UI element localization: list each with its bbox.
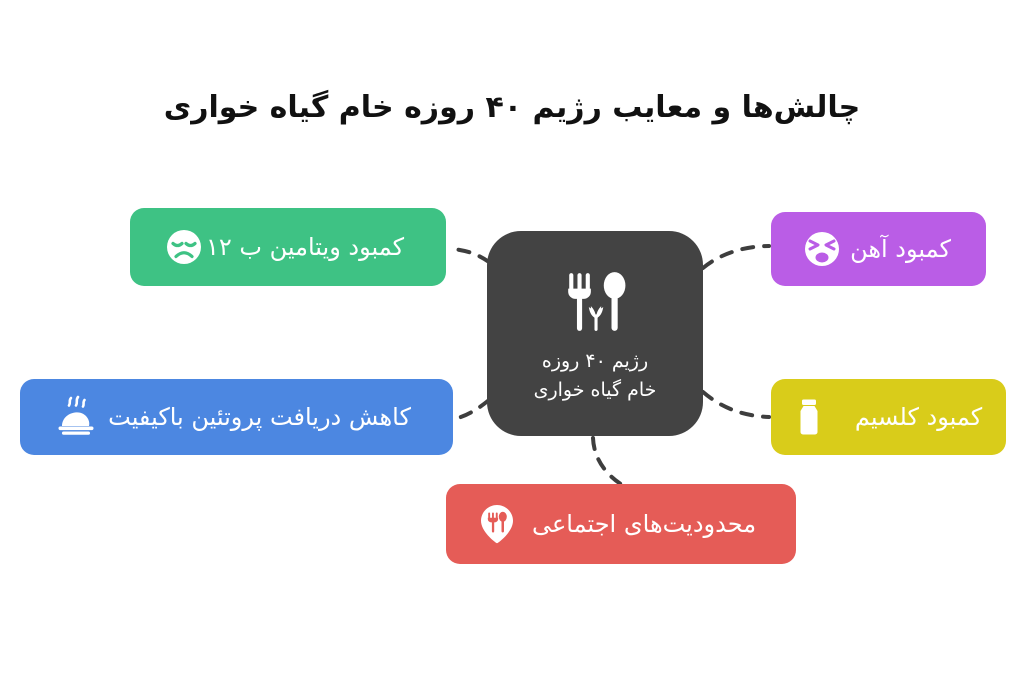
connector-to-b12 <box>448 248 489 262</box>
hot-meal-platter-icon <box>54 395 98 439</box>
branch-label-iron: کمبود آهن <box>850 235 951 264</box>
connector-to-protein <box>453 400 489 419</box>
branch-label-b12: کمبود ویتامین ب ۱۲ <box>206 233 404 262</box>
milk-bottle-icon <box>789 397 829 437</box>
restaurant-map-pin-icon <box>476 503 518 545</box>
connector-to-calcium <box>703 392 769 417</box>
weary-face-icon <box>802 229 842 269</box>
branch-node-social[interactable]: محدودیت‌های اجتماعی <box>446 484 796 564</box>
connector-to-iron <box>703 246 769 268</box>
branch-node-iron[interactable]: کمبود آهن <box>771 212 986 286</box>
central-node[interactable]: رژیم ۴۰ روزه خام گیاه خواری <box>487 231 703 436</box>
branch-label-protein: کاهش دریافت پروتئین باکیفیت <box>108 403 411 432</box>
branch-node-b12[interactable]: کمبود ویتامین ب ۱۲ <box>130 208 446 286</box>
branch-node-calcium[interactable]: کمبود کلسیم <box>771 379 1006 455</box>
branch-label-social: محدودیت‌های اجتماعی <box>532 510 756 539</box>
disappointed-face-icon <box>164 227 204 267</box>
branch-node-protein[interactable]: کاهش دریافت پروتئین باکیفیت <box>20 379 453 455</box>
fork-leaf-spoon-icon <box>562 269 628 335</box>
page-title: چالش‌ها و معایب رژیم ۴۰ روزه خام گیاه خو… <box>0 86 1024 130</box>
central-node-label: رژیم ۴۰ روزه خام گیاه خواری <box>534 347 657 404</box>
connector-to-social <box>593 438 624 486</box>
branch-label-calcium: کمبود کلسیم <box>855 403 982 432</box>
infographic-canvas: چالش‌ها و معایب رژیم ۴۰ روزه خام گیاه خو… <box>0 0 1024 683</box>
